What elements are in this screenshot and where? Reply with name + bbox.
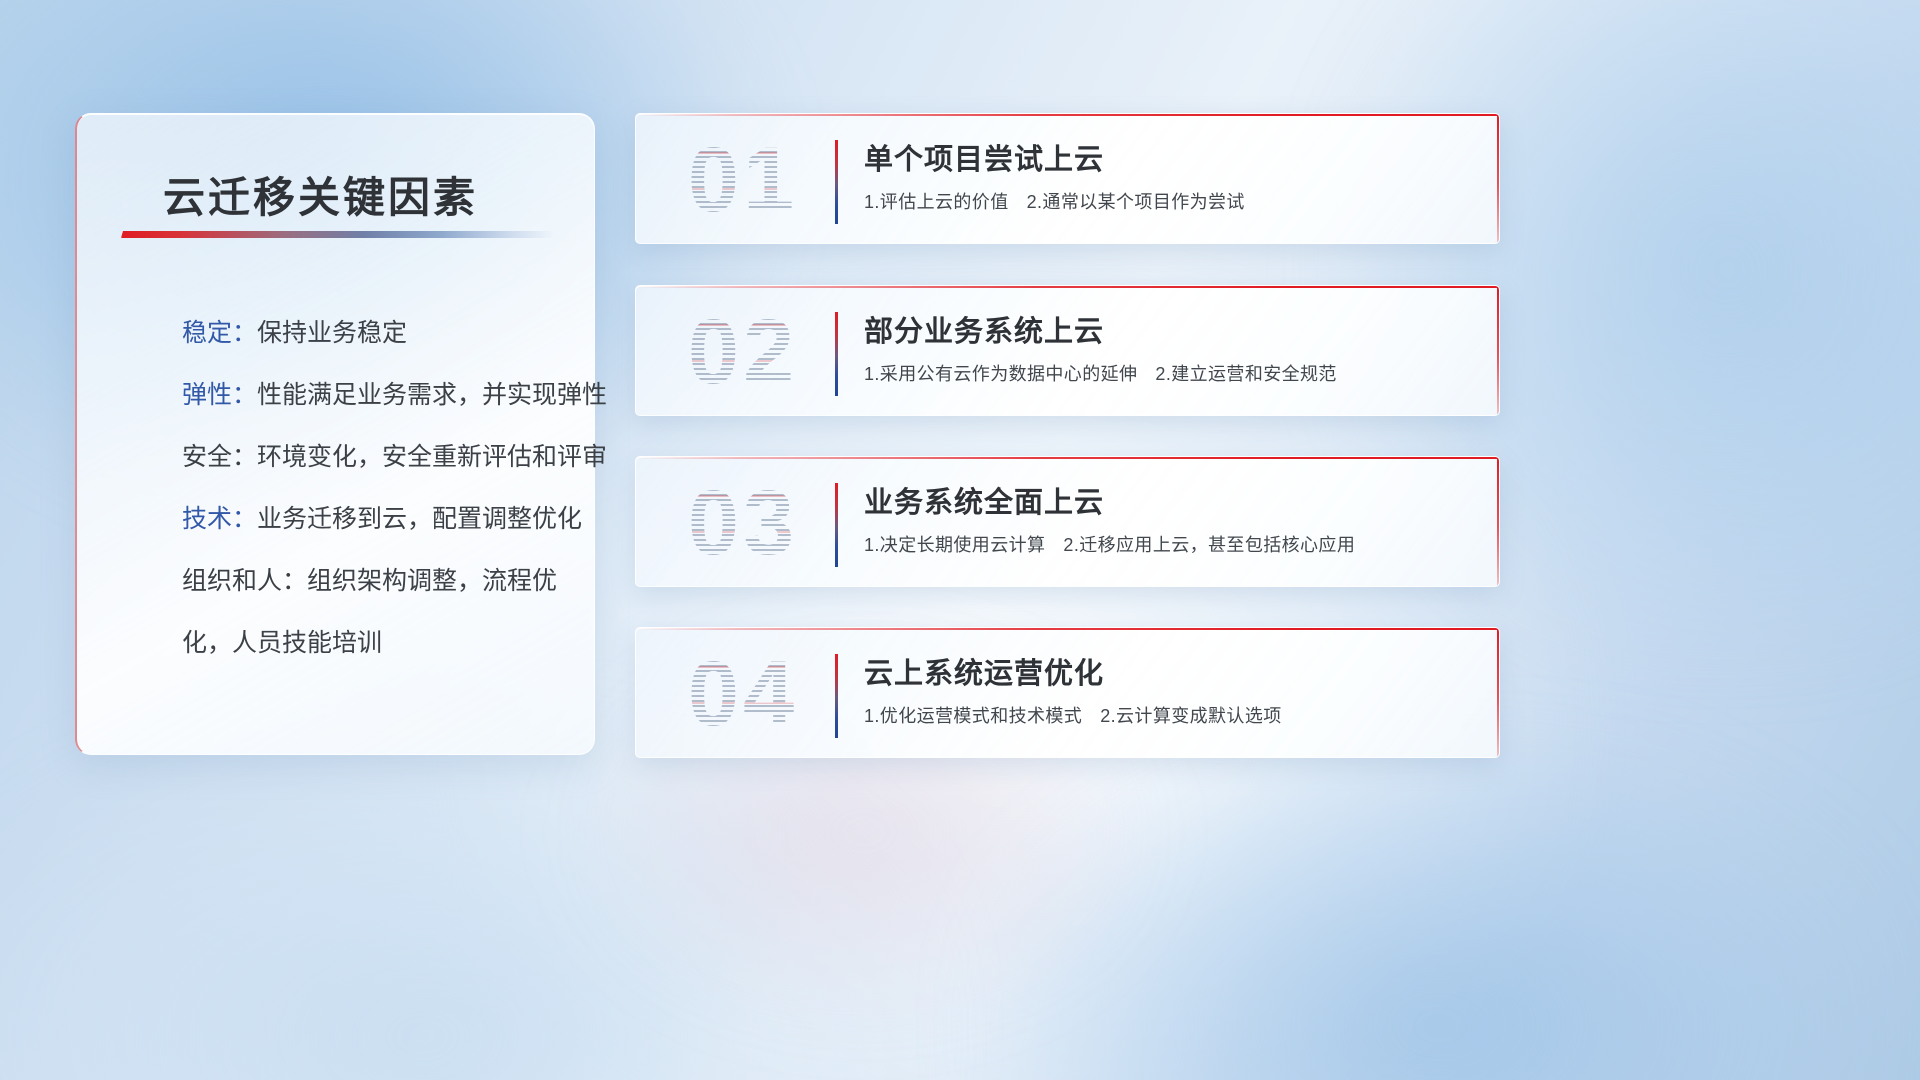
- card-desc-part-2: 2.通常以某个项目作为尝试: [1027, 192, 1245, 212]
- list-item: 稳定：保持业务稳定: [107, 302, 574, 364]
- card-accent-bar: [835, 654, 838, 738]
- list-item-label: 安全：: [182, 443, 257, 471]
- list-item-text: 业务迁移到云，配置调整优化: [257, 505, 582, 533]
- card-description: 1.优化运营模式和技术模式2.云计算变成默认选项: [864, 702, 1282, 728]
- card-desc-part-1: 1.决定长期使用云计算: [864, 535, 1045, 555]
- card-title: 单个项目尝试上云: [864, 136, 1104, 178]
- list-item-text: 保持业务稳定: [257, 319, 407, 347]
- card-desc-part-2: 2.云计算变成默认选项: [1100, 706, 1281, 726]
- card-accent-bar: [835, 483, 838, 567]
- card-title: 云上系统运营优化: [864, 650, 1104, 692]
- stage-number-02-red-overlay: 02: [658, 298, 828, 406]
- page-title: 云迁移关键因素: [163, 164, 478, 225]
- card-accent-bar: [835, 140, 838, 224]
- left-panel: 云迁移关键因素 稳定：保持业务稳定 弹性：性能满足业务需求，并实现弹性 安全：环…: [75, 113, 595, 755]
- list-item-label: 技术：: [182, 505, 257, 533]
- list-item: 弹性：性能满足业务需求，并实现弹性: [107, 364, 574, 426]
- stage-card-02[interactable]: 02 02 部分业务系统上云 1.采用公有云作为数据中心的延伸2.建立运营和安全…: [635, 285, 1500, 416]
- stage-card-03[interactable]: 03 03 业务系统全面上云 1.决定长期使用云计算2.迁移应用上云，甚至包括核…: [635, 456, 1500, 587]
- card-title: 部分业务系统上云: [864, 308, 1104, 350]
- card-title: 业务系统全面上云: [864, 479, 1104, 521]
- list-item: 安全：环境变化，安全重新评估和评审: [107, 426, 574, 488]
- card-desc-part-2: 2.迁移应用上云，甚至包括核心应用: [1063, 535, 1355, 555]
- card-desc-part-1: 1.优化运营模式和技术模式: [864, 706, 1082, 726]
- key-factors-list: 稳定：保持业务稳定 弹性：性能满足业务需求，并实现弹性 安全：环境变化，安全重新…: [107, 302, 574, 674]
- card-description: 1.采用公有云作为数据中心的延伸2.建立运营和安全规范: [864, 360, 1337, 386]
- list-item-text: 环境变化，安全重新评估和评审: [257, 443, 607, 471]
- card-desc-part-2: 2.建立运营和安全规范: [1155, 364, 1336, 384]
- stage-number-03-red-overlay: 03: [658, 469, 828, 577]
- stage-number-01-red-overlay: 01: [658, 126, 828, 234]
- list-item-label: 组织和人：: [182, 567, 307, 595]
- list-item: 组织和人：组织架构调整，流程优化，人员技能培训: [107, 550, 574, 674]
- card-accent-bar: [835, 312, 838, 396]
- card-description: 1.评估上云的价值2.通常以某个项目作为尝试: [864, 188, 1245, 214]
- card-desc-part-1: 1.评估上云的价值: [864, 192, 1009, 212]
- stage-card-04[interactable]: 04 04 云上系统运营优化 1.优化运营模式和技术模式2.云计算变成默认选项: [635, 627, 1500, 758]
- stage-card-01[interactable]: 01 01 单个项目尝试上云 1.评估上云的价值2.通常以某个项目作为尝试: [635, 113, 1500, 244]
- slide-stage: 云迁移关键因素 稳定：保持业务稳定 弹性：性能满足业务需求，并实现弹性 安全：环…: [0, 0, 1920, 1080]
- title-underline-gradient: [121, 231, 555, 238]
- list-item-label: 稳定：: [182, 319, 257, 347]
- list-item-text: 性能满足业务需求，并实现弹性: [257, 381, 607, 409]
- card-desc-part-1: 1.采用公有云作为数据中心的延伸: [864, 364, 1137, 384]
- card-description: 1.决定长期使用云计算2.迁移应用上云，甚至包括核心应用: [864, 531, 1355, 557]
- stage-number-04-red-overlay: 04: [658, 640, 828, 748]
- list-item: 技术：业务迁移到云，配置调整优化: [107, 488, 574, 550]
- list-item-label: 弹性：: [182, 381, 257, 409]
